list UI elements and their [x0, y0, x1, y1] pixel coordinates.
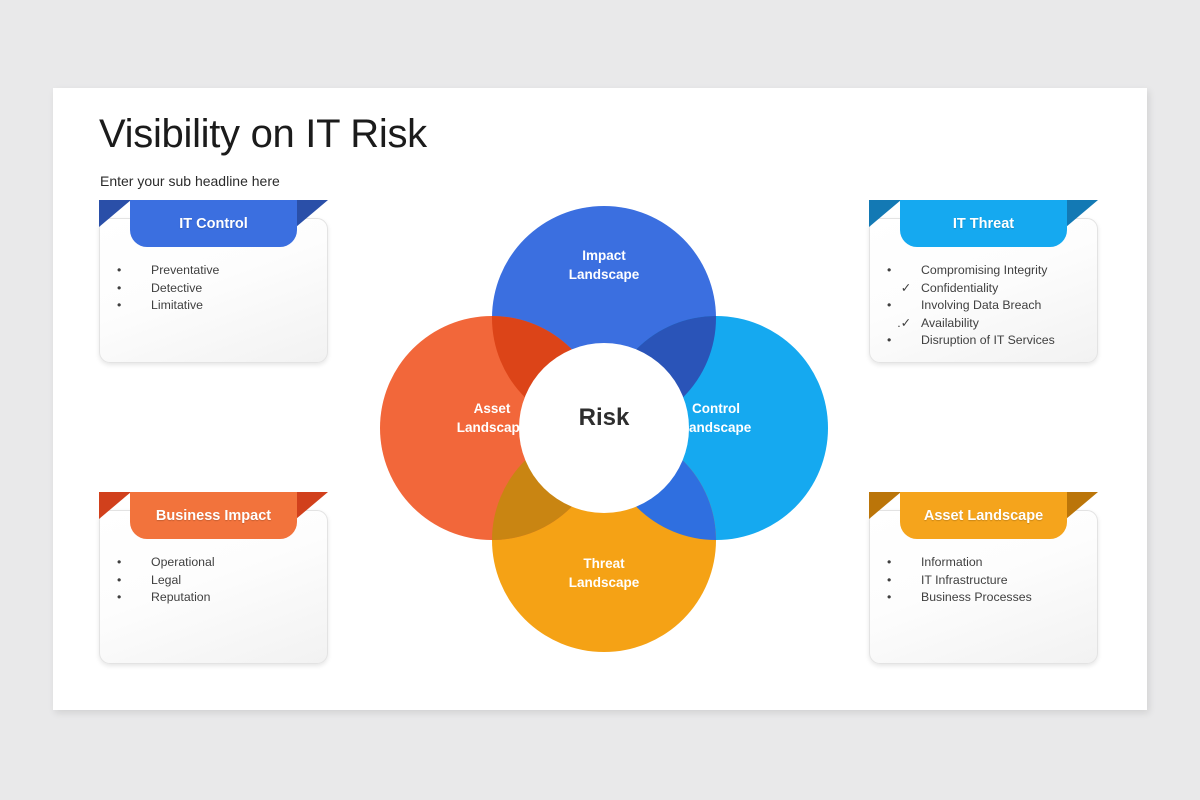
list-item: • Legal	[117, 572, 322, 590]
ribbon-fold-left	[869, 492, 901, 519]
ribbon-fold-left	[99, 492, 131, 519]
list-item: .✓ Availability	[887, 315, 1092, 333]
bullet-list: • Preventative • Detective • Limitative	[117, 262, 322, 315]
slide-canvas: Visibility on IT Risk Enter your sub hea…	[53, 88, 1147, 710]
bullet-icon: •	[887, 554, 921, 572]
list-item: • Information	[887, 554, 1092, 572]
list-item-label: Confidentiality	[921, 280, 998, 298]
label-risk: Risk	[519, 404, 689, 432]
list-item: • Involving Data Breach	[887, 297, 1092, 315]
list-item-label: Disruption of IT Services	[921, 332, 1055, 350]
bullet-icon: •	[117, 262, 151, 280]
bullet-icon: •	[887, 589, 921, 607]
ribbon-business-impact: Business Impact	[99, 492, 328, 540]
venn-diagram: Impact Landscape Control Landscape Threa…	[364, 206, 844, 658]
ribbon-asset-landscape: Asset Landscape	[869, 492, 1098, 540]
list-item-label: Availability	[921, 315, 979, 333]
bullet-icon: •	[887, 572, 921, 590]
list-item-label: Legal	[151, 572, 181, 590]
list-item: • Compromising Integrity	[887, 262, 1092, 280]
ribbon-fold-right	[296, 492, 328, 519]
ribbon-it-threat: IT Threat	[869, 200, 1098, 248]
list-item-label: Compromising Integrity	[921, 262, 1047, 280]
label-line-1: Impact	[534, 246, 674, 265]
list-item: • Reputation	[117, 589, 322, 607]
list-item: • Preventative	[117, 262, 322, 280]
label-line-2: Landscape	[534, 573, 674, 592]
ribbon-it-control: IT Control	[99, 200, 328, 248]
bullet-icon: •	[117, 554, 151, 572]
page-title: Visibility on IT Risk	[99, 112, 427, 157]
ribbon-banner: Business Impact	[130, 492, 297, 539]
ribbon-fold-right	[1066, 200, 1098, 227]
label-impact-landscape: Impact Landscape	[534, 246, 674, 284]
list-item: • Operational	[117, 554, 322, 572]
list-item-label: IT Infrastructure	[921, 572, 1008, 590]
card-title: IT Threat	[953, 216, 1014, 232]
bullet-list: • Operational • Legal • Reputation	[117, 554, 322, 607]
list-item: • Limitative	[117, 297, 322, 315]
bullet-icon: •	[117, 297, 151, 315]
bullet-icon: •	[887, 332, 921, 350]
list-item: • Detective	[117, 280, 322, 298]
card-title: IT Control	[179, 216, 247, 232]
label-threat-landscape: Threat Landscape	[534, 554, 674, 592]
ribbon-banner: Asset Landscape	[900, 492, 1067, 539]
list-item-label: Preventative	[151, 262, 219, 280]
list-item: ✓ Confidentiality	[887, 280, 1092, 298]
ribbon-banner: IT Threat	[900, 200, 1067, 247]
ribbon-fold-left	[869, 200, 901, 227]
card-title: Business Impact	[156, 508, 271, 524]
list-item-label: Information	[921, 554, 983, 572]
check-icon: .✓	[887, 315, 917, 333]
ribbon-banner: IT Control	[130, 200, 297, 247]
check-icon: ✓	[887, 280, 917, 298]
list-item-label: Involving Data Breach	[921, 297, 1041, 315]
page-subtitle: Enter your sub headline here	[100, 173, 280, 189]
bullet-icon: •	[887, 297, 921, 315]
list-item-label: Limitative	[151, 297, 203, 315]
ribbon-fold-right	[1066, 492, 1098, 519]
ribbon-fold-left	[99, 200, 131, 227]
ribbon-fold-right	[296, 200, 328, 227]
label-line-2: Landscape	[534, 265, 674, 284]
label-line-1: Threat	[534, 554, 674, 573]
bullet-icon: •	[887, 262, 921, 280]
list-item: • IT Infrastructure	[887, 572, 1092, 590]
bullet-list: • Information • IT Infrastructure • Busi…	[887, 554, 1092, 607]
bullet-icon: •	[117, 589, 151, 607]
bullet-list: • Compromising Integrity ✓ Confidentiali…	[887, 262, 1092, 350]
list-item-label: Business Processes	[921, 589, 1032, 607]
list-item-label: Reputation	[151, 589, 210, 607]
list-item-label: Detective	[151, 280, 202, 298]
list-item: • Disruption of IT Services	[887, 332, 1092, 350]
bullet-icon: •	[117, 572, 151, 590]
bullet-icon: •	[117, 280, 151, 298]
list-item: • Business Processes	[887, 589, 1092, 607]
list-item-label: Operational	[151, 554, 215, 572]
card-title: Asset Landscape	[924, 508, 1043, 524]
